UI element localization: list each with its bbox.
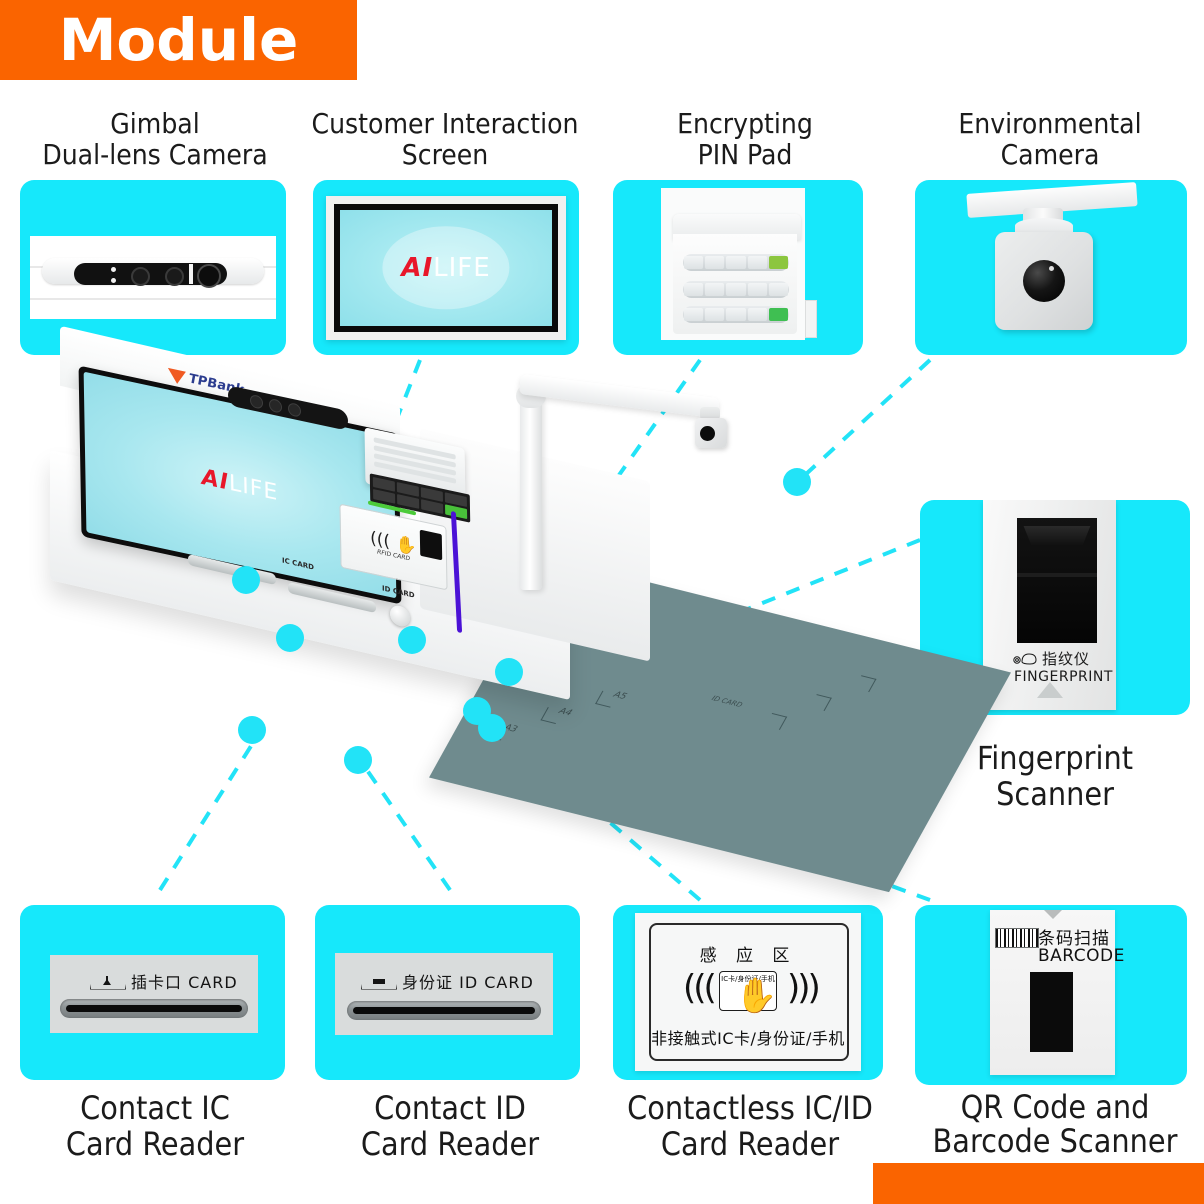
caption-line-1: Contact IC [15,1090,295,1126]
interaction-screen-illustration: AILIFE [326,196,566,340]
module-card-contact-ic-card-reader[interactable]: 插卡口 CARD [20,905,285,1080]
module-card-customer-interaction-screen[interactable]: AILIFE [313,180,579,355]
caption-contactless-ic-id-card-reader: Contactless IC/ID Card Reader [600,1090,900,1162]
rf-wave-left-icon: ((( [683,971,714,1005]
hotspot-gimbal-camera[interactable] [232,566,260,594]
caption-line-1: Encrypting [600,108,890,139]
caption-qr-code-and-barcode-scanner: QR Code and Barcode Scanner [905,1090,1204,1158]
module-card-qr-code-and-barcode-scanner[interactable]: 条码扫描 BARCODE [915,905,1187,1085]
contactless-title-cn: 感 应 区 [635,941,861,966]
id-slot-illustration: 身份证 ID CARD [335,953,553,1035]
id-card-icon [361,974,395,989]
screen-ailife-logo: AILIFE [401,253,490,283]
caption-encrypting-pin-pad: Encrypting PIN Pad [600,108,890,170]
caption-gimbal-dual-lens-camera: Gimbal Dual-lens Camera [0,108,310,170]
caption-contact-id-card-reader: Contact ID Card Reader [310,1090,590,1162]
pin-pad-illustration [661,188,805,340]
rf-wave-right-icon: ))) [787,971,818,1005]
device-arm-column [520,390,542,590]
caption-line-1: QR Code and [905,1090,1204,1124]
ic-label-en: CARD [188,973,238,992]
contactless-illustration: 感 应 区 ((( ))) IC卡/身份证/手机 ✋ 非接触式IC卡/身份证/手… [635,913,861,1071]
contactless-sub-cn: 非接触式IC卡/身份证/手机 [635,1025,861,1049]
module-card-encrypting-pin-pad[interactable] [613,180,863,355]
ic-label-cn: 插卡口 [131,973,182,992]
gimbal-camera-illustration [30,236,276,319]
device-screen-ailife: AILIFE [202,464,279,505]
barcode-label-en: BARCODE [1038,946,1125,966]
barcode-illustration: 条码扫描 BARCODE [990,910,1115,1075]
banner-title: Module [59,11,299,69]
fingerprint-label-cn: 指纹仪 [1042,648,1090,669]
caption-line-2: Card Reader [15,1126,295,1162]
caption-line-1: Customer Interaction [295,108,595,139]
hotspot-fingerprint[interactable] [495,658,523,686]
hotspot-id-card-slot[interactable] [344,746,372,774]
ic-slot-illustration: 插卡口 CARD [50,955,258,1033]
device-illustration: A3 A4 A5 ID CARD TPBank AILIFE [50,360,950,860]
caption-line-2: Barcode Scanner [905,1124,1204,1158]
caption-contact-ic-card-reader: Contact IC Card Reader [15,1090,295,1162]
module-card-contact-id-card-reader[interactable]: 身份证 ID CARD [315,905,580,1080]
caption-environmental-camera: Environmental Camera [900,108,1200,170]
fingerprint-label-en: FINGERPRINT [1014,669,1113,685]
caption-line-2: Camera [900,139,1200,170]
environmental-camera-illustration [915,180,1187,355]
caption-line-1: Gimbal [0,108,310,139]
caption-customer-interaction-screen: Customer Interaction Screen [295,108,595,170]
hotspot-environmental-camera[interactable] [783,468,811,496]
id-label-en: ID CARD [459,973,534,992]
caption-line-1: Contactless IC/ID [600,1090,900,1126]
caption-line-2: Card Reader [600,1126,900,1162]
id-label-cn: 身份证 [402,973,453,992]
life-text: LIFE [433,253,491,283]
barcode-icon [995,928,1039,948]
caption-line-2: Dual-lens Camera [0,139,310,170]
hotspot-ic-card-slot[interactable] [238,716,266,744]
device-overhead-camera [695,418,727,448]
hotspot-pin-pad[interactable] [398,626,426,654]
caption-line-1: Contact ID [310,1090,590,1126]
mat-label-id-card: ID CARD [710,695,744,709]
ai-text: AI [202,464,230,495]
life-text: LIFE [229,470,279,506]
device-arm-horizontal [519,374,720,418]
caption-line-2: PIN Pad [600,139,890,170]
caption-line-2: Screen [295,139,595,170]
hotspot-interaction-screen[interactable] [276,624,304,652]
poster-canvas: Module Gimbal Dual-lens Camera Customer … [0,0,1204,1204]
hotspot-barcode[interactable] [478,714,506,742]
module-card-environmental-camera[interactable] [915,180,1187,355]
module-card-contactless-ic-id-card-reader[interactable]: 感 应 区 ((( ))) IC卡/身份证/手机 ✋ 非接触式IC卡/身份证/手… [613,905,883,1080]
module-banner: Module [0,0,357,80]
ai-text: AI [401,253,433,283]
caption-line-1: Environmental [900,108,1200,139]
tpbank-mark-icon [168,367,186,385]
fingerprint-icon [1013,651,1039,666]
footer-accent-bar [873,1163,1204,1204]
caption-line-2: Card Reader [310,1126,590,1162]
device-fingerprint-module[interactable] [420,530,442,561]
hand-icon: ✋ [735,979,777,1013]
insert-card-icon [90,974,124,989]
